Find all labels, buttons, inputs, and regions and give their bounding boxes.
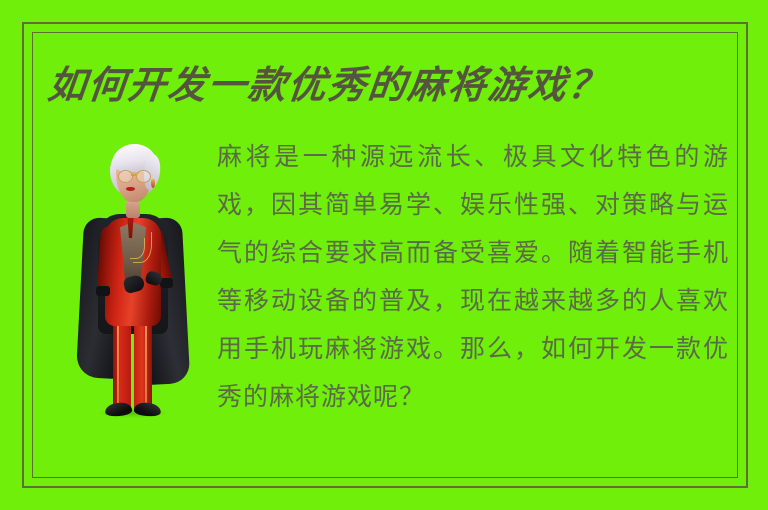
trouser-stripe-right	[145, 322, 147, 406]
neck	[126, 200, 140, 218]
trouser-left	[113, 316, 131, 412]
trouser-right	[134, 316, 152, 412]
coat-cuff-left	[96, 286, 110, 296]
poster-canvas: 如何开发一款优秀的麻将游戏？ 麻将是一种源远流长、极具文化特色的游戏，因其简单易…	[0, 0, 768, 510]
character-illustration	[72, 126, 192, 416]
earring	[151, 179, 155, 188]
body-paragraph: 麻将是一种源远流长、极具文化特色的游戏，因其简单易学、娱乐性强、对策略与运气的综…	[217, 133, 729, 421]
page-title: 如何开发一款优秀的麻将游戏？	[45, 57, 671, 113]
glasses-lens-right	[136, 170, 151, 183]
trouser-stripe-left	[117, 322, 119, 406]
glasses-lens-left	[118, 170, 133, 183]
glasses-icon	[117, 170, 151, 181]
lips	[126, 187, 135, 191]
